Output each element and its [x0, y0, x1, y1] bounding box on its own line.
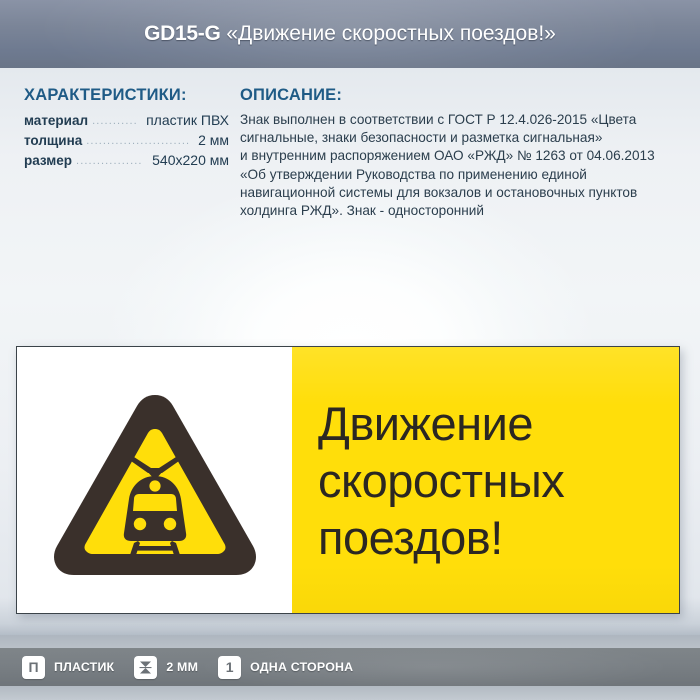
- sign-text-line: Движение: [318, 395, 564, 452]
- footer-item-thickness: 2 ММ: [134, 656, 198, 679]
- description-line: сигнальные, знаки безопасности и разметк…: [240, 129, 686, 147]
- sign-panel: Движение скоростных поездов!: [16, 346, 680, 614]
- description-heading: ОПИСАНИЕ:: [240, 86, 686, 105]
- thickness-caliper-icon: [134, 656, 157, 679]
- train-warning-triangle-icon: [50, 391, 260, 577]
- footer-item-material: П ПЛАСТИК: [22, 656, 114, 679]
- spec-value: 540x220 мм: [152, 152, 229, 168]
- page-title: GD15-G «Движение скоростных поездов!»: [0, 0, 700, 68]
- footer-item-sides: 1 ОДНА СТОРОНА: [218, 656, 353, 679]
- spec-key: размер: [24, 153, 72, 168]
- sign-text: Движение скоростных поездов!: [292, 395, 564, 566]
- spec-key: толщина: [24, 133, 82, 148]
- product-name: «Движение скоростных поездов!»: [226, 22, 556, 45]
- one-side-icon: 1: [218, 656, 241, 679]
- description-line: и внутренним распоряжением ОАО «РЖД» № 1…: [240, 147, 686, 165]
- specifications-heading: ХАРАКТЕРИСТИКИ:: [24, 86, 229, 105]
- description-block: ОПИСАНИЕ: Знак выполнен в соответствии с…: [240, 86, 686, 220]
- specifications-block: ХАРАКТЕРИСТИКИ: материал ........... пла…: [24, 86, 229, 172]
- sign-text-area: Движение скоростных поездов!: [292, 347, 679, 613]
- plastic-letter-icon: П: [22, 656, 45, 679]
- spec-leader-dots: ...........: [92, 115, 142, 127]
- footer-item-label: 2 ММ: [166, 660, 198, 674]
- spec-key: материал: [24, 113, 88, 128]
- spec-row-size: размер ................ 540x220 мм: [24, 152, 229, 168]
- spec-row-thickness: толщина ......................... 2 мм: [24, 132, 229, 148]
- spec-value: пластик ПВХ: [146, 112, 229, 128]
- sign-pictogram-area: [17, 347, 292, 613]
- sign-preview[interactable]: Движение скоростных поездов!: [16, 346, 680, 614]
- description-line: «Об утверждении Руководства по применени…: [240, 166, 686, 184]
- footer-item-label: ПЛАСТИК: [54, 660, 114, 674]
- footer-divider: [0, 635, 700, 648]
- product-code: GD15-G: [144, 22, 220, 45]
- description-line: Знак выполнен в соответствии с ГОСТ Р 12…: [240, 111, 686, 129]
- sign-text-line: скоростных: [318, 452, 564, 509]
- spec-row-material: материал ........... пластик ПВХ: [24, 112, 229, 128]
- footer-bottom-edge: [0, 686, 700, 700]
- spec-leader-dots: .........................: [86, 135, 194, 147]
- footer-item-label: ОДНА СТОРОНА: [250, 660, 353, 674]
- footer-bar: П ПЛАСТИК 2 ММ 1 ОДНА СТОРОНА: [0, 648, 700, 686]
- description-line: холдинга РЖД». Знак - односторонний: [240, 202, 686, 220]
- spec-value: 2 мм: [198, 132, 229, 148]
- spec-leader-dots: ................: [76, 155, 148, 167]
- description-line: навигационной системы для вокзалов и ост…: [240, 184, 686, 202]
- page-header: GD15-G «Движение скоростных поездов!»: [0, 0, 700, 68]
- sign-text-line: поездов!: [318, 509, 564, 566]
